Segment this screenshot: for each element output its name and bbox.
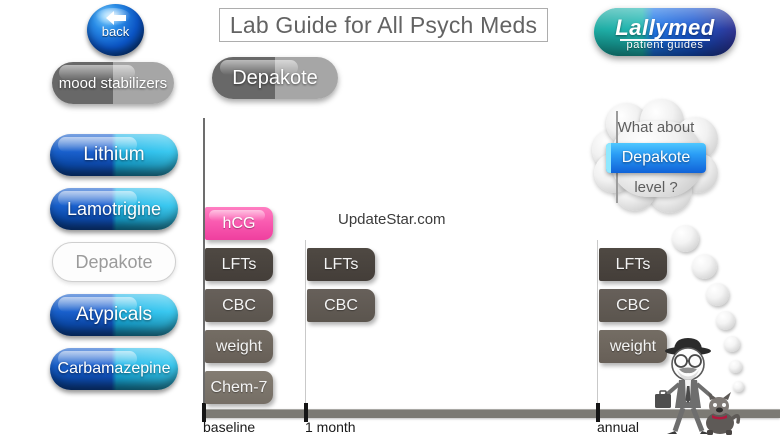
- axis-label-1-month: 1 month: [305, 419, 356, 435]
- sidebar-item-label: Depakote: [75, 252, 152, 273]
- lab-box-weight-baseline[interactable]: weight: [205, 330, 273, 363]
- sidebar-item-label: Lithium: [83, 144, 144, 166]
- lab-box-label: CBC: [616, 297, 650, 315]
- logo-name-part1: Lally: [615, 15, 668, 40]
- lab-box-label: LFTs: [616, 256, 651, 274]
- chip-highlight: [606, 143, 611, 173]
- lab-box-label: weight: [610, 338, 656, 356]
- lab-box-chem7-baseline[interactable]: Chem-7: [205, 371, 273, 404]
- lab-box-label: CBC: [222, 297, 256, 315]
- thought-line-2: level ?: [592, 179, 720, 196]
- sidebar-item-lithium[interactable]: Lithium: [50, 134, 178, 176]
- sidebar-item-carbamazepine[interactable]: Carbamazepine: [50, 348, 178, 390]
- lab-box-cbc-baseline[interactable]: CBC: [205, 289, 273, 322]
- lab-box-label: hCG: [223, 215, 256, 233]
- drug-header-pill: Depakote: [212, 57, 338, 99]
- lab-box-label: Chem-7: [211, 379, 268, 397]
- category-pill-mood-stabilizers[interactable]: mood stabilizers: [52, 62, 174, 104]
- thought-trail-bubble: [692, 254, 717, 279]
- dog-character-icon: [700, 390, 742, 436]
- back-button[interactable]: back: [87, 4, 144, 56]
- lab-box-cbc-1-month[interactable]: CBC: [307, 289, 375, 322]
- sidebar-item-atypicals[interactable]: Atypicals: [50, 294, 178, 336]
- page-title: Lab Guide for All Psych Meds: [219, 8, 548, 42]
- thought-bubble: What about Depakote level ?: [592, 103, 720, 215]
- lab-box-hcg-baseline[interactable]: hCG: [205, 207, 273, 240]
- column-line-annual: [597, 240, 598, 412]
- drug-header-label: Depakote: [232, 67, 318, 90]
- lab-box-lfts-baseline[interactable]: LFTs: [205, 248, 273, 281]
- watermark-text: UpdateStar.com: [338, 211, 446, 228]
- thought-trail-bubble: [716, 311, 735, 330]
- lab-box-lfts-annual[interactable]: LFTs: [599, 248, 667, 281]
- lab-box-lfts-1-month[interactable]: LFTs: [307, 248, 375, 281]
- lab-box-label: LFTs: [324, 256, 359, 274]
- axis-label-annual: annual: [597, 419, 639, 435]
- sidebar-item-label: Lamotrigine: [67, 199, 161, 220]
- sidebar-item-depakote[interactable]: Depakote: [52, 242, 176, 282]
- thought-drug-chip-label: Depakote: [622, 149, 691, 167]
- axis-label-baseline: baseline: [203, 419, 255, 435]
- page-title-text: Lab Guide for All Psych Meds: [230, 12, 537, 39]
- lab-box-label: LFTs: [222, 256, 257, 274]
- logo-tagline: patient guides: [594, 39, 736, 51]
- sidebar-item-lamotrigine[interactable]: Lamotrigine: [50, 188, 178, 230]
- thought-line-1: What about: [592, 119, 720, 136]
- slide-canvas: back mood stabilizers Lab Guide for All …: [0, 0, 780, 439]
- back-button-label: back: [102, 25, 129, 38]
- sidebar-item-label: Carbamazepine: [58, 360, 171, 378]
- logo-name: Lallymed: [594, 15, 736, 41]
- thought-trail-bubble: [729, 360, 742, 373]
- logo-name-part2: med: [668, 15, 715, 40]
- thought-trail-bubble: [672, 225, 699, 252]
- column-line-1-month: [305, 240, 306, 412]
- thought-trail-bubble: [706, 283, 729, 306]
- category-pill-label: mood stabilizers: [59, 75, 167, 92]
- lab-box-cbc-annual[interactable]: CBC: [599, 289, 667, 322]
- arrow-left-icon: [103, 10, 129, 26]
- lallymed-logo[interactable]: Lallymed patient guides: [594, 8, 736, 56]
- lab-box-label: CBC: [324, 297, 358, 315]
- sidebar-item-label: Atypicals: [76, 304, 152, 326]
- lab-box-label: weight: [216, 338, 262, 356]
- thought-drug-chip[interactable]: Depakote: [606, 143, 706, 173]
